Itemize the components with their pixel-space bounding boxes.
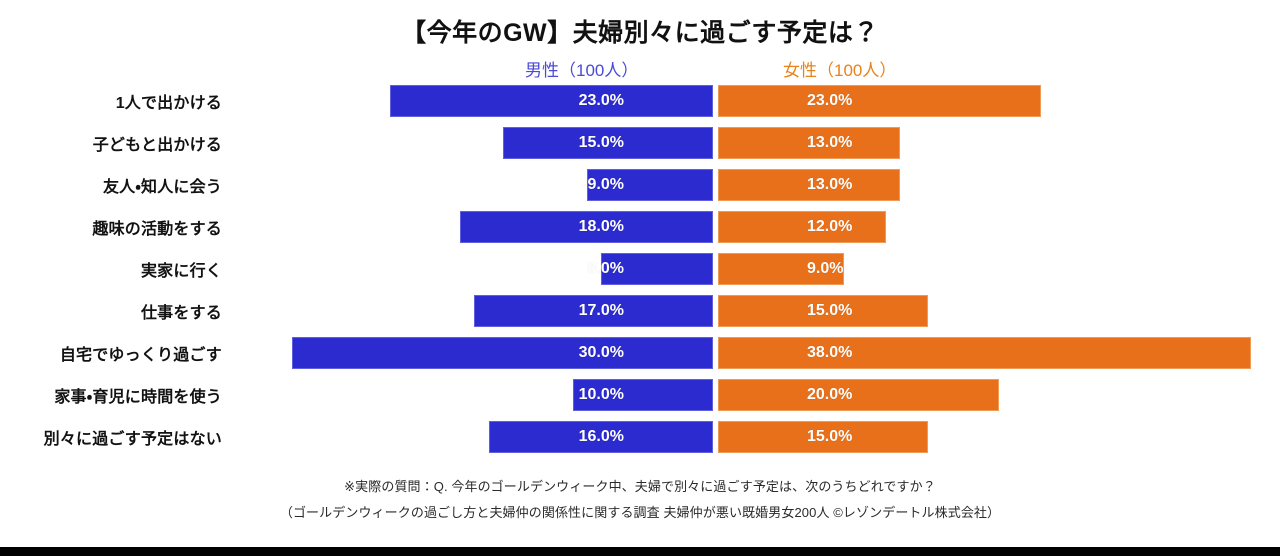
bar-value-female: 23.0% <box>807 92 852 110</box>
chart-row: 趣味の活動をする18.0%12.0% <box>0 211 1280 243</box>
bar-value-female: 13.0% <box>807 134 852 152</box>
bar-female: 23.0% <box>718 85 1041 117</box>
bar-female: 9.0% <box>718 253 844 285</box>
bar-male: 18.0% <box>460 211 713 243</box>
bar-value-female: 15.0% <box>807 428 852 446</box>
chart-title: 【今年のGW】夫婦別々に過ごす予定は？ <box>0 13 1280 49</box>
bar-male: 15.0% <box>503 127 713 159</box>
chart-page: 【今年のGW】夫婦別々に過ごす予定は？ 男性（100人） 女性（100人） 1人… <box>0 0 1280 556</box>
chart-row: 家事・育児に時間を使う10.0%20.0% <box>0 379 1280 411</box>
category-label: 趣味の活動をする <box>0 215 222 239</box>
chart-row: 別々に過ごす予定はない16.0%15.0% <box>0 421 1280 453</box>
category-label: 仕事をする <box>0 299 222 323</box>
category-label: 家事・育児に時間を使う <box>0 383 222 407</box>
bar-value-female: 38.0% <box>807 344 852 362</box>
category-label: 自宅でゆっくり過ごす <box>0 341 222 365</box>
bar-value-female: 15.0% <box>807 302 852 320</box>
bar-female: 15.0% <box>718 421 928 453</box>
bar-value-male: 8.0% <box>588 260 624 278</box>
category-label: 実家に行く <box>0 257 222 281</box>
bar-female: 13.0% <box>718 127 900 159</box>
bar-male: 30.0% <box>292 337 713 369</box>
legend-item-male: 男性（100人） <box>525 56 638 81</box>
bar-female: 12.0% <box>718 211 886 243</box>
bar-value-male: 17.0% <box>579 302 624 320</box>
bar-male: 16.0% <box>489 421 713 453</box>
bar-value-male: 30.0% <box>579 344 624 362</box>
bar-value-male: 23.0% <box>579 92 624 110</box>
footnote-block: ※実際の質問：Q. 今年のゴールデンウィーク中、夫婦で別々に過ごす予定は、次のう… <box>0 474 1280 526</box>
bar-value-male: 16.0% <box>579 428 624 446</box>
footnote-source: （ゴールデンウィークの過ごし方と夫婦仲の関係性に関する調査 夫婦仲が悪い既婚男女… <box>0 500 1280 526</box>
bar-male: 9.0% <box>587 169 713 201</box>
category-label: 子どもと出かける <box>0 131 222 155</box>
bar-female: 13.0% <box>718 169 900 201</box>
chart-row: 自宅でゆっくり過ごす30.0%38.0% <box>0 337 1280 369</box>
chart-row: 友人・知人に会う9.0%13.0% <box>0 169 1280 201</box>
bar-female: 38.0% <box>718 337 1251 369</box>
bar-male: 17.0% <box>474 295 713 327</box>
plot-area: 1人で出かける23.0%23.0%子どもと出かける15.0%13.0%友人・知人… <box>0 85 1280 463</box>
footnote-question: ※実際の質問：Q. 今年のゴールデンウィーク中、夫婦で別々に過ごす予定は、次のう… <box>0 474 1280 500</box>
category-label: 1人で出かける <box>0 89 222 113</box>
bar-value-male: 18.0% <box>579 218 624 236</box>
bar-value-male: 15.0% <box>579 134 624 152</box>
bar-value-female: 13.0% <box>807 176 852 194</box>
bottom-strip <box>0 547 1280 556</box>
category-label: 友人・知人に会う <box>0 173 222 197</box>
legend-item-female: 女性（100人） <box>783 56 896 81</box>
category-label: 別々に過ごす予定はない <box>0 425 222 449</box>
bar-female: 20.0% <box>718 379 999 411</box>
chart-row: 仕事をする17.0%15.0% <box>0 295 1280 327</box>
bar-male: 10.0% <box>573 379 713 411</box>
chart-legend: 男性（100人） 女性（100人） <box>0 56 1280 80</box>
bar-value-male: 10.0% <box>579 386 624 404</box>
bar-female: 15.0% <box>718 295 928 327</box>
bar-value-female: 9.0% <box>807 260 843 278</box>
chart-row: 子どもと出かける15.0%13.0% <box>0 127 1280 159</box>
bar-male: 8.0% <box>601 253 713 285</box>
bar-value-female: 20.0% <box>807 386 852 404</box>
chart-row: 1人で出かける23.0%23.0% <box>0 85 1280 117</box>
bar-value-female: 12.0% <box>807 218 852 236</box>
bar-male: 23.0% <box>390 85 713 117</box>
bar-value-male: 9.0% <box>588 176 624 194</box>
chart-row: 実家に行く8.0%9.0% <box>0 253 1280 285</box>
